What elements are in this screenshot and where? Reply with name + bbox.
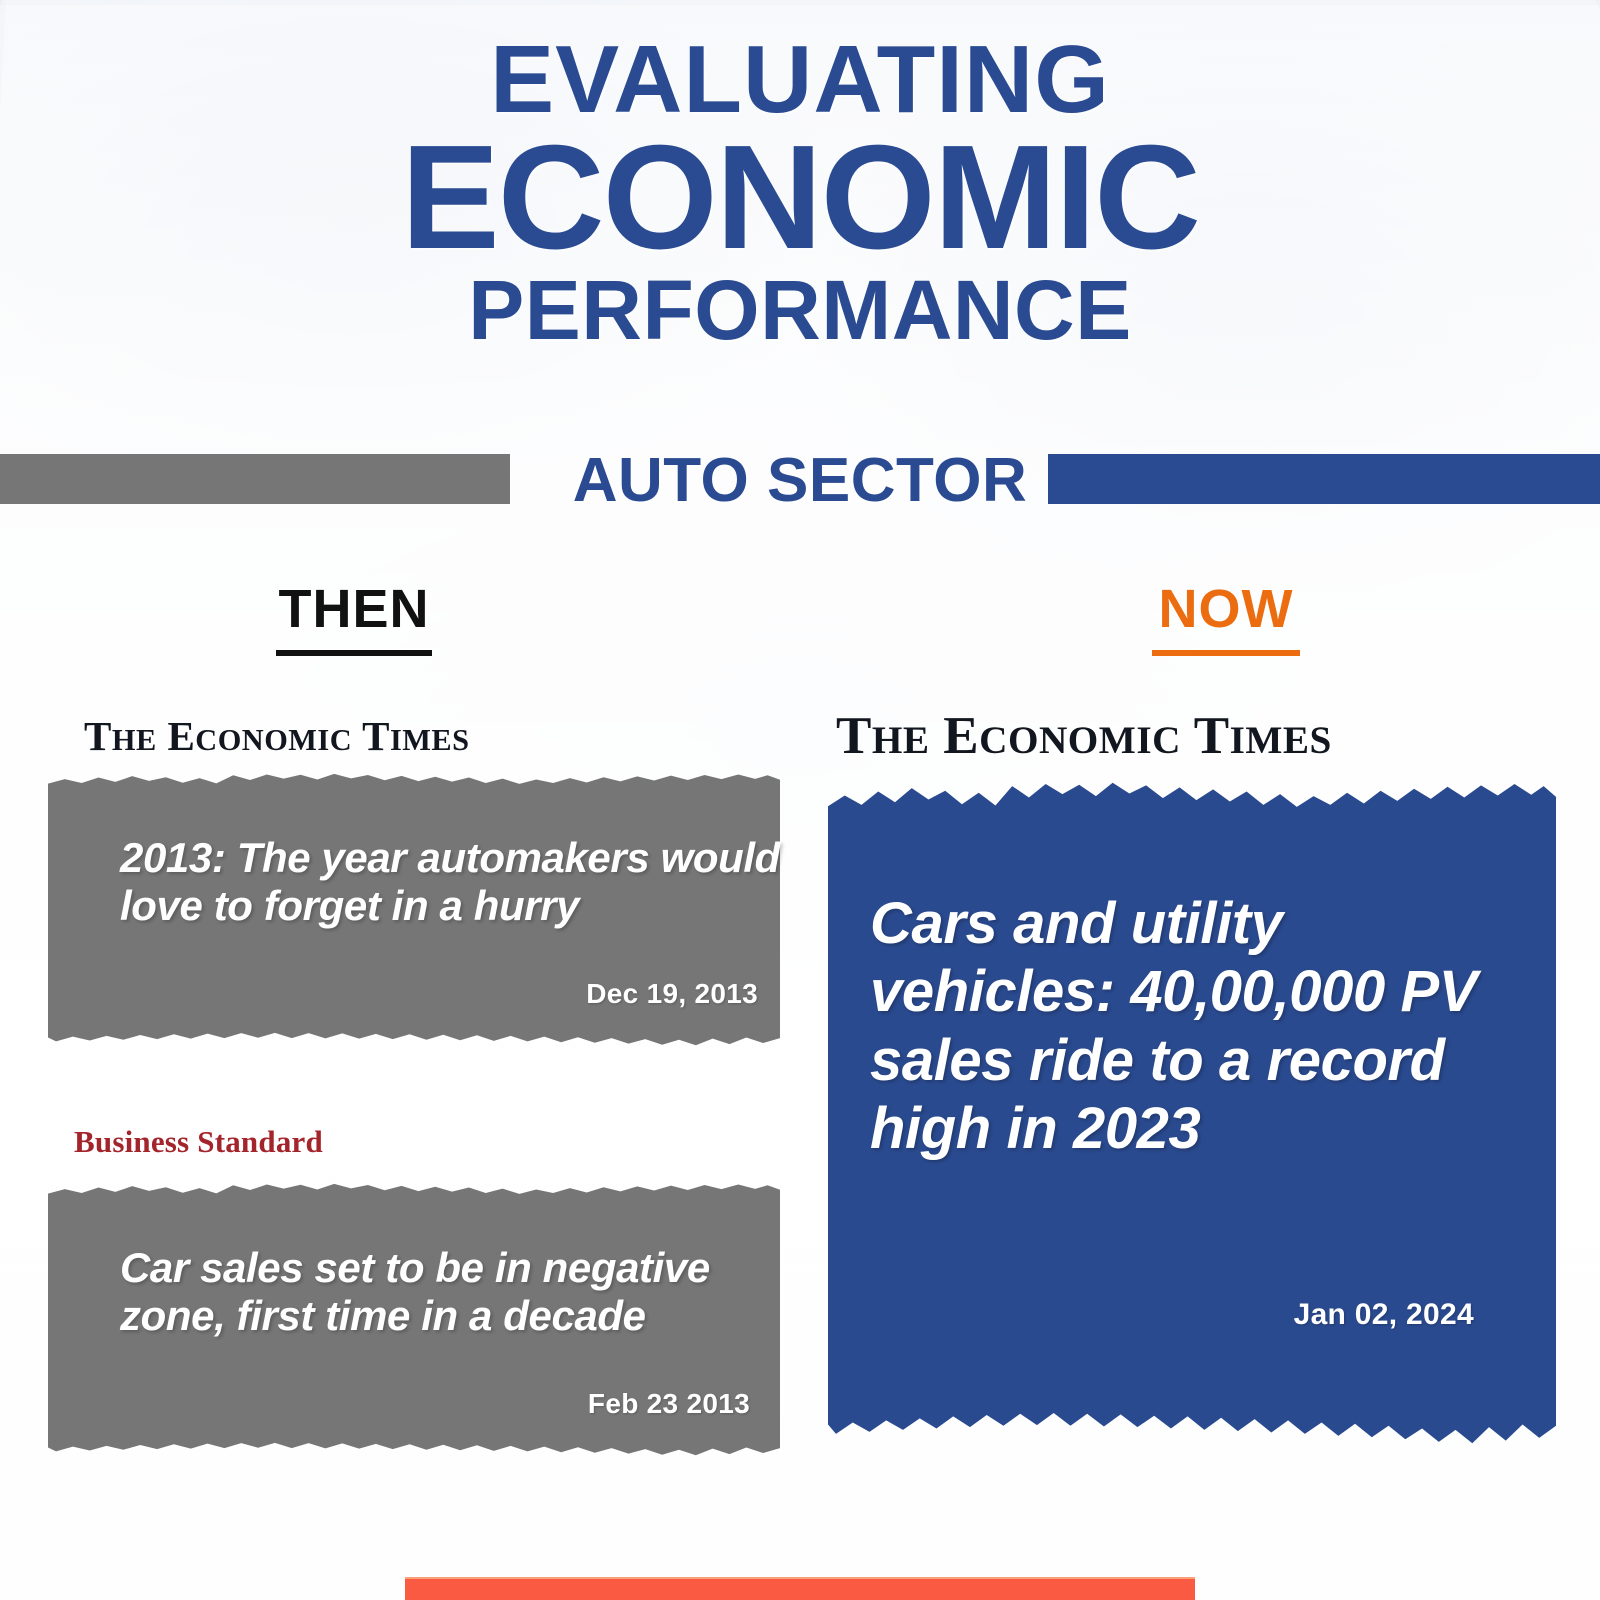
headline-text: 2013: The year automakers would love to … — [120, 834, 780, 930]
column-header-now: NOW — [1152, 578, 1300, 656]
headline-text: Cars and utility vehicles: 40,00,000 PV … — [870, 890, 1530, 1164]
sector-band: AUTO SECTOR — [0, 454, 1600, 504]
headline-date: Feb 23 2013 — [588, 1388, 750, 1420]
footer-accent-bar — [405, 1577, 1195, 1600]
title-line-performance: PERFORMANCE — [0, 272, 1600, 349]
poster-title: EVALUATING ECONOMIC PERFORMANCE — [0, 36, 1600, 350]
headline-card-then-2: Car sales set to be in negative zone, fi… — [48, 1182, 780, 1458]
headline-date: Dec 19, 2013 — [586, 978, 758, 1010]
sector-label: AUTO SECTOR — [0, 445, 1600, 516]
masthead-economic-times-now: THE ECONOMIC TIMES — [836, 706, 1332, 766]
headline-card-then-1: 2013: The year automakers would love to … — [48, 772, 780, 1048]
title-line-evaluating: EVALUATING — [0, 36, 1600, 124]
now-underline — [1152, 650, 1300, 656]
title-line-economic: ECONOMIC — [0, 130, 1600, 266]
masthead-business-standard: Business Standard — [74, 1124, 323, 1160]
then-underline — [276, 650, 432, 656]
now-label-text: NOW — [1159, 579, 1294, 639]
headline-text: Car sales set to be in negative zone, fi… — [120, 1244, 780, 1340]
headline-date: Jan 02, 2024 — [1294, 1298, 1474, 1332]
masthead-economic-times-then: THE ECONOMIC TIMES — [84, 712, 470, 760]
headline-card-now-1: Cars and utility vehicles: 40,00,000 PV … — [828, 778, 1556, 1450]
column-header-then: THEN — [276, 578, 432, 656]
then-label-text: THEN — [279, 579, 430, 639]
infographic-poster: EVALUATING ECONOMIC PERFORMANCE AUTO SEC… — [0, 0, 1600, 1600]
